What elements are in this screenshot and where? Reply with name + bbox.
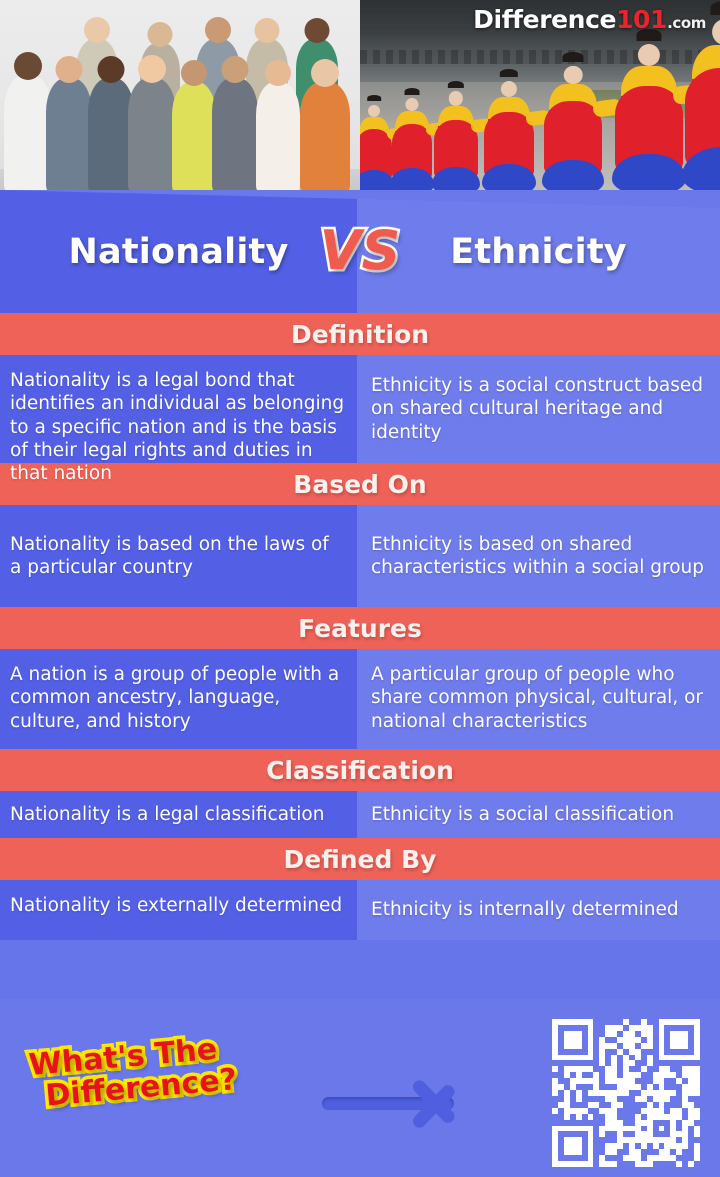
dancer-figure	[432, 98, 480, 196]
person-figure	[256, 82, 300, 192]
dancer-figure	[482, 88, 536, 196]
section-header-features: Features	[0, 607, 720, 649]
section-header-classification: Classification	[0, 749, 720, 791]
photo-diverse-group	[0, 0, 360, 196]
person-figure	[172, 82, 216, 192]
dancer-figure	[360, 110, 394, 196]
person-head	[84, 17, 110, 43]
cell-nationality-classification: Nationality is a legal classification	[0, 791, 357, 838]
person-head	[181, 60, 207, 86]
right-arrow-icon	[322, 1071, 490, 1137]
section-title: Defined By	[284, 845, 437, 874]
person-figure	[46, 78, 92, 192]
person-head	[255, 18, 280, 43]
cell-ethnicity-definition: Ethnicity is a social construct based on…	[357, 355, 720, 463]
section-header-definition: Definition	[0, 313, 720, 355]
title-left-label: Nationality	[69, 232, 289, 272]
qr-module	[694, 1161, 700, 1167]
versus-badge: VS	[320, 224, 401, 278]
cell-nationality-definition: Nationality is a legal bond that identif…	[0, 355, 357, 463]
footer: What's The Difference?	[0, 999, 720, 1177]
person-head	[222, 56, 249, 83]
dancer-figure	[682, 31, 720, 196]
logo-tld: .com	[667, 14, 706, 32]
comparison-table: Definition Nationality is a legal bond t…	[0, 313, 720, 940]
person-head	[98, 56, 125, 83]
person-figure	[128, 78, 176, 192]
person-figure	[4, 75, 52, 193]
person-head	[311, 59, 339, 87]
section-body-classification: Nationality is a legal classification Et…	[0, 791, 720, 838]
dancer-hair	[405, 88, 420, 95]
dancer-figure	[612, 55, 686, 196]
dancer-head	[564, 66, 583, 85]
dancer-head	[501, 81, 517, 97]
dancer-head	[638, 44, 660, 66]
person-head	[265, 60, 291, 86]
title-left-column: Nationality	[0, 232, 357, 272]
logo-word-101: 101	[616, 5, 667, 34]
dancer-hair	[500, 69, 518, 78]
cta-whats-the-difference: What's The Difference?	[28, 1032, 239, 1114]
title-right-column: Ethnicity	[357, 232, 720, 272]
section-body-definition: Nationality is a legal bond that identif…	[0, 355, 720, 463]
person-head	[148, 22, 173, 47]
person-head	[205, 17, 231, 43]
cell-ethnicity-features: A particular group of people who share c…	[357, 649, 720, 749]
dancer-figure	[390, 104, 434, 196]
site-logo: Difference101.com	[473, 7, 706, 32]
dancer-hair	[562, 52, 583, 62]
person-figure	[212, 78, 258, 192]
photo-strip: Difference101.com	[0, 0, 720, 196]
dancer-hair	[710, 1, 720, 15]
qr-code[interactable]	[552, 1019, 700, 1167]
cell-nationality-defined-by: Nationality is externally determined	[0, 880, 357, 940]
section-body-features: A nation is a group of people with a com…	[0, 649, 720, 749]
dancer-head	[405, 98, 418, 111]
dancer-figure	[542, 74, 604, 196]
cell-ethnicity-based-on: Ethnicity is based on shared characteris…	[357, 505, 720, 607]
section-header-defined-by: Defined By	[0, 838, 720, 880]
dancer-hair	[448, 81, 464, 89]
dancer-head	[449, 91, 463, 105]
person-figure	[300, 82, 350, 192]
person-head	[138, 55, 166, 83]
title-band: Nationality Ethnicity VS	[0, 190, 720, 314]
logo-word-difference: Difference	[473, 5, 616, 34]
section-body-based-on: Nationality is based on the laws of a pa…	[0, 505, 720, 607]
section-title: Features	[298, 614, 422, 643]
person-head	[305, 18, 330, 43]
cell-nationality-based-on: Nationality is based on the laws of a pa…	[0, 505, 357, 607]
cell-ethnicity-classification: Ethnicity is a social classification	[357, 791, 720, 838]
cell-nationality-features: A nation is a group of people with a com…	[0, 649, 357, 749]
cell-ethnicity-defined-by: Ethnicity is internally determined	[357, 880, 720, 940]
section-title: Classification	[266, 756, 454, 785]
infographic-page: Difference101.com Nationality Ethnicity …	[0, 0, 720, 1177]
section-body-defined-by: Nationality is externally determined Eth…	[0, 880, 720, 940]
section-title: Definition	[291, 320, 429, 349]
dancer-hair	[367, 95, 381, 101]
section-title: Based On	[293, 470, 426, 499]
person-head	[56, 56, 83, 83]
person-head	[14, 52, 42, 80]
title-right-label: Ethnicity	[450, 232, 627, 272]
dancer-head	[368, 105, 380, 117]
